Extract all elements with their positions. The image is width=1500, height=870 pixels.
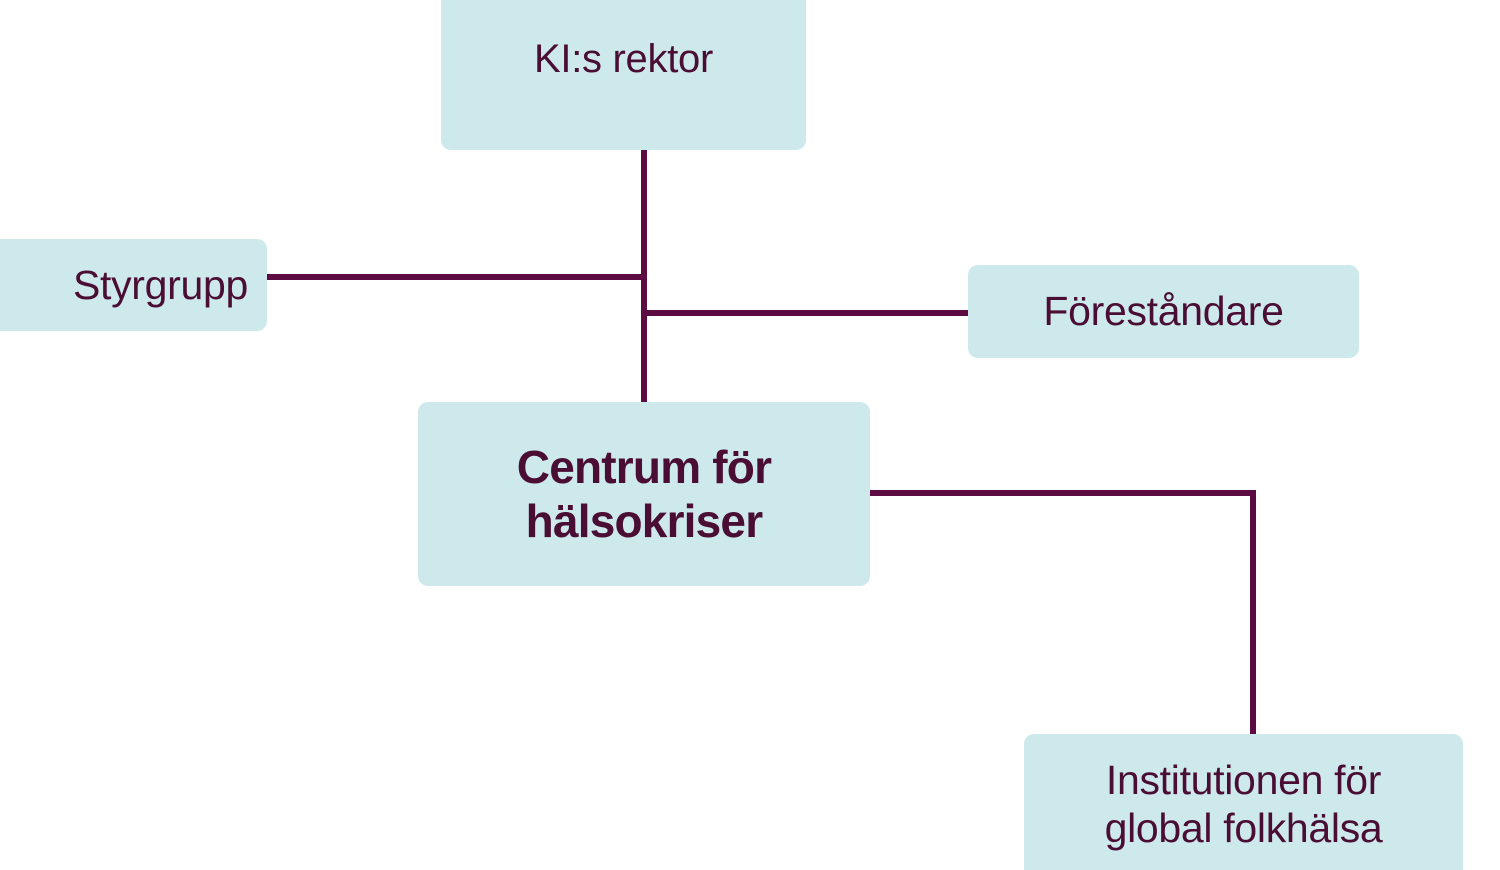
connector-styrgrupp-to-trunk [262, 274, 647, 280]
node-kis-rektor[interactable]: KI:s rektor [441, 0, 806, 150]
node-centrum-for-halsokriser[interactable]: Centrum för hälsokriser [418, 402, 870, 586]
connector-centrum-to-institutionen-horizontal [866, 490, 1256, 496]
node-styrgrupp[interactable]: Styrgrupp [0, 239, 267, 331]
connector-centrum-to-institutionen-vertical [1250, 490, 1256, 738]
connector-trunk-to-forestandare [641, 310, 973, 316]
node-forestandare[interactable]: Föreståndare [968, 265, 1359, 358]
node-institutionen-for-global-folkhalsa[interactable]: Institutionen för global folkhälsa [1024, 734, 1463, 870]
org-chart-diagram: KI:s rektor Styrgrupp Föreståndare Centr… [0, 0, 1500, 870]
